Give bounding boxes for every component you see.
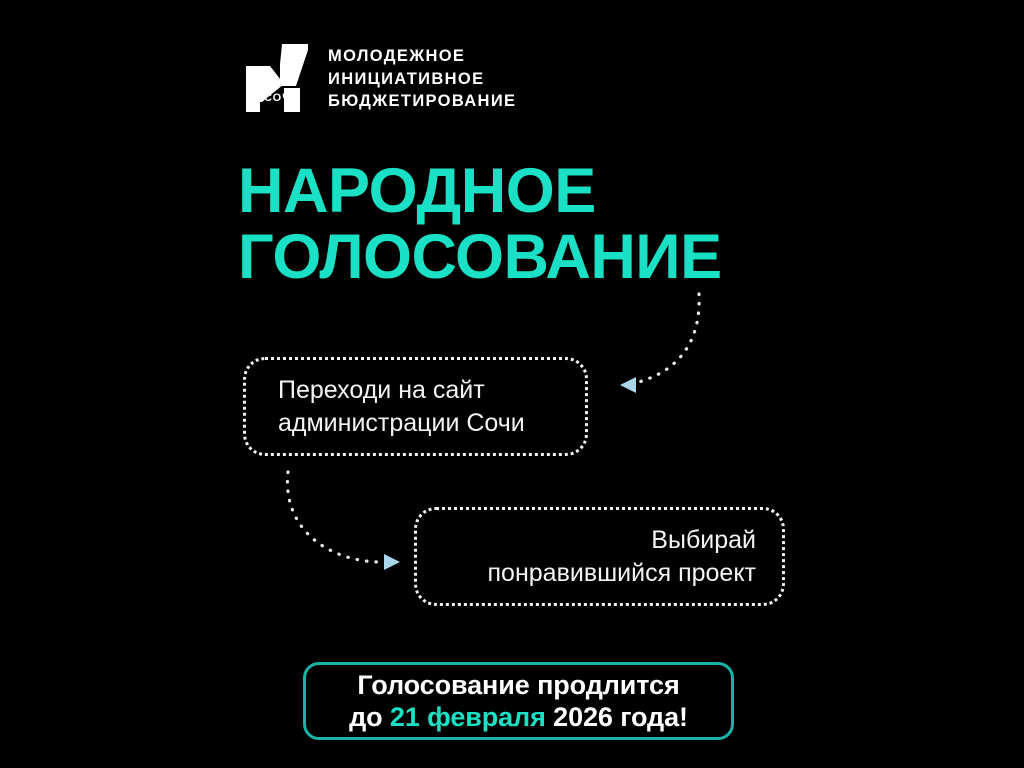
deadline-suffix: 2026 года! [546,702,688,732]
headline-line-1: НАРОДНОЕ [238,158,858,224]
logo-line-3: БЮДЖЕТИРОВАНИЕ [328,90,516,113]
logo-wordmark: МОЛОДЕЖНОЕ ИНИЦИАТИВНОЕ БЮДЖЕТИРОВАНИЕ [328,42,516,113]
curved-arrow-to-project-bubble-icon [280,468,415,573]
step-bubble-site-text: Переходи на сайт администрации Сочи [278,374,565,440]
logo-line-1: МОЛОДЕЖНОЕ [328,45,516,68]
step-bubble-site: Переходи на сайт администрации Сочи [243,357,588,456]
curved-arrow-to-site-bubble-icon [588,288,718,398]
mib-sochi-logo-mark-icon: СОЧИ [244,42,310,114]
deadline-prefix: до [349,702,390,732]
deadline-date: 21 февраля [390,702,546,732]
headline-line-2: ГОЛОСОВАНИЕ [238,224,858,290]
poster-root: СОЧИ МОЛОДЕЖНОЕ ИНИЦИАТИВНОЕ БЮДЖЕТИРОВА… [0,0,1024,768]
deadline-banner-line-1: Голосование продлится [357,669,679,701]
logo-mark-label: СОЧИ [264,92,300,104]
deadline-banner-line-2: до 21 февраля 2026 года! [349,701,688,733]
logo-line-2: ИНИЦИАТИВНОЕ [328,68,516,91]
page-title: НАРОДНОЕ ГОЛОСОВАНИЕ [238,158,858,290]
deadline-banner: Голосование продлится до 21 февраля 2026… [303,662,734,740]
step-bubble-project-text: Выбирай понравившийся проект [437,524,756,590]
step-bubble-project: Выбирай понравившийся проект [414,507,785,606]
logo-block: СОЧИ МОЛОДЕЖНОЕ ИНИЦИАТИВНОЕ БЮДЖЕТИРОВА… [244,42,516,114]
